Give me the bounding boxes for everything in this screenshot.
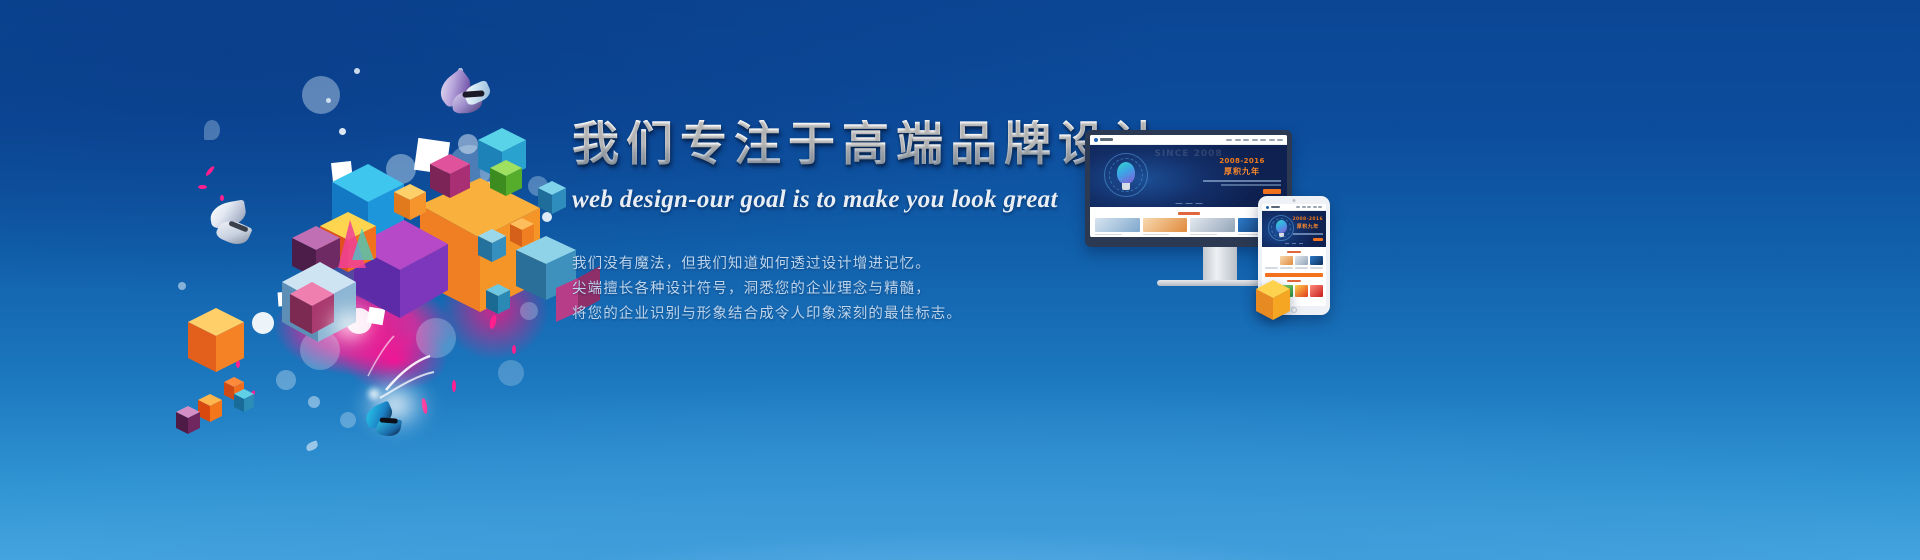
card-thumbnail — [1295, 256, 1308, 265]
tablet-nav-menu — [1296, 206, 1322, 208]
tablet-navbar — [1262, 204, 1326, 211]
site-logo-text — [1271, 206, 1280, 208]
nav-item — [1252, 139, 1258, 141]
card-thumbnail — [1190, 218, 1235, 232]
abstract-artwork — [190, 60, 630, 460]
hero-title: 厚积九年 — [1292, 223, 1323, 230]
service-card[interactable] — [1190, 218, 1235, 238]
nav-item — [1235, 139, 1241, 141]
nav-item — [1318, 206, 1322, 208]
card-thumbnail — [1143, 218, 1188, 232]
service-card[interactable] — [1310, 256, 1323, 269]
nav-item — [1260, 139, 1266, 141]
slider-dot[interactable] — [1285, 243, 1289, 245]
cta-banner[interactable] — [1265, 273, 1323, 277]
service-card[interactable] — [1265, 256, 1278, 269]
hero-slider-dots[interactable] — [1175, 203, 1202, 205]
hero-headline-block: 2008-2016 厚积九年 — [1203, 157, 1281, 194]
nav-item — [1243, 139, 1249, 141]
service-cards — [1095, 218, 1282, 238]
card-thumbnail — [1265, 256, 1278, 265]
butterfly-bottom-icon — [359, 396, 419, 447]
nav-item — [1277, 139, 1283, 141]
service-card[interactable] — [1143, 218, 1188, 238]
bulb-body — [1276, 220, 1287, 233]
bulb-base — [1279, 233, 1284, 237]
lightbulb-graphic — [1268, 215, 1294, 243]
card-line — [1095, 234, 1122, 236]
case-thumb[interactable] — [1310, 285, 1323, 297]
card-line — [1295, 267, 1308, 269]
hero-year: 2008-2016 — [1292, 217, 1323, 222]
service-card[interactable] — [1095, 218, 1140, 238]
card-line — [1143, 234, 1170, 236]
card-thumbnail — [1095, 218, 1140, 232]
butterfly-left-icon — [200, 196, 276, 265]
hero-cta-button[interactable] — [1313, 238, 1323, 241]
slider-dot[interactable] — [1195, 203, 1202, 205]
orange-accent-cube — [1253, 278, 1293, 322]
case-thumb[interactable] — [1295, 285, 1308, 297]
hero-subline — [1221, 184, 1281, 186]
nav-item — [1226, 139, 1232, 141]
section-title-bar — [1178, 212, 1200, 215]
hero-title: 厚积九年 — [1203, 166, 1281, 177]
slider-dot[interactable] — [1299, 243, 1303, 245]
tablet-camera-icon — [1293, 199, 1296, 202]
hero-subline — [1203, 180, 1281, 182]
card-line — [1190, 234, 1217, 236]
site-logo-icon — [1266, 206, 1269, 209]
nav-item — [1313, 206, 1317, 208]
hero-cta-button[interactable] — [1263, 189, 1281, 194]
card-line — [1280, 267, 1293, 269]
butterfly-speck-icon — [306, 442, 324, 456]
nav-item — [1269, 139, 1275, 141]
service-card[interactable] — [1280, 256, 1293, 269]
lightbulb-graphic — [1104, 153, 1148, 199]
service-card[interactable] — [1295, 256, 1308, 269]
card-thumbnail — [1280, 256, 1293, 265]
bokeh-circle — [178, 282, 186, 290]
slider-dot[interactable] — [1175, 203, 1182, 205]
site-logo-text — [1100, 138, 1113, 141]
site-navbar — [1090, 135, 1287, 145]
nav-item — [1307, 206, 1311, 208]
device-mockups: SINCE 2008 2008-2016 厚积九年 — [1085, 130, 1355, 325]
slider-dot[interactable] — [1292, 243, 1296, 245]
monitor-neck — [1203, 247, 1237, 280]
slider-dot[interactable] — [1185, 203, 1192, 205]
nav-item — [1302, 206, 1306, 208]
service-cards — [1265, 256, 1323, 269]
card-line — [1265, 267, 1278, 269]
bulb-body — [1117, 162, 1135, 184]
section-title-bar — [1287, 251, 1301, 253]
site-hero: SINCE 2008 2008-2016 厚积九年 — [1090, 145, 1287, 207]
bulb-base — [1122, 183, 1130, 190]
site-logo-icon — [1094, 138, 1098, 142]
slider-dots[interactable] — [1285, 243, 1303, 245]
tablet-hero-headline: 2008-2016 厚积九年 — [1292, 217, 1323, 241]
tablet-hero: 2008-2016 厚积九年 — [1262, 211, 1326, 247]
card-line — [1310, 267, 1323, 269]
hero-subline — [1293, 233, 1323, 235]
nav-item — [1296, 206, 1300, 208]
hero-year: 2008-2016 — [1203, 157, 1281, 165]
site-nav-menu — [1226, 139, 1283, 141]
card-thumbnail — [1310, 256, 1323, 265]
hero-banner: 我们专注于高端品牌设计 web design-our goal is to ma… — [0, 0, 1920, 560]
